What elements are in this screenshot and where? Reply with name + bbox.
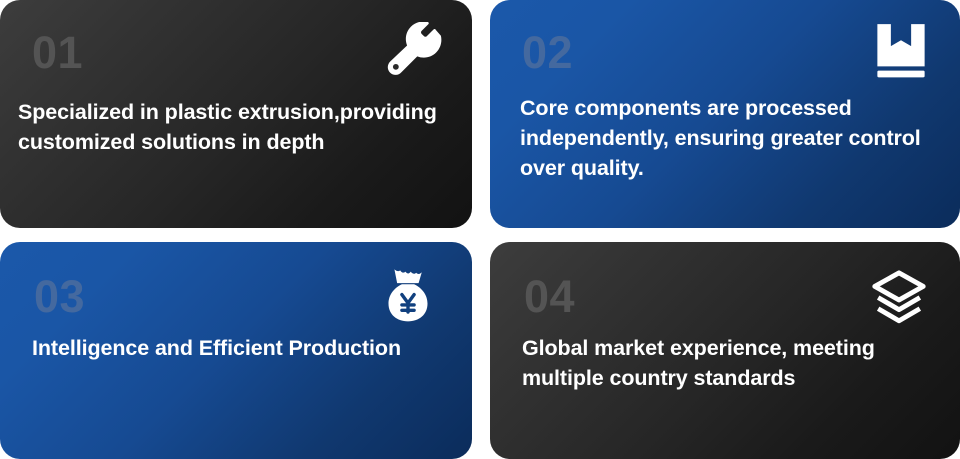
feature-card-grid: 01 Specialized in plastic extrusion,prov… (0, 0, 960, 459)
card-text-01: Specialized in plastic extrusion,providi… (18, 97, 438, 157)
card-number-02: 02 (522, 30, 926, 75)
feature-card-04[interactable]: 04 Global market experience, meeting mul… (490, 242, 960, 459)
card-number-03: 03 (34, 274, 438, 319)
feature-card-02[interactable]: 02 Core components are processed indepen… (490, 0, 960, 228)
feature-card-01[interactable]: 01 Specialized in plastic extrusion,prov… (0, 0, 472, 228)
card-text-02: Core components are processed independen… (520, 93, 926, 183)
card-number-01: 01 (32, 30, 438, 75)
card-text-03: Intelligence and Efficient Production (32, 333, 438, 363)
card-text-04: Global market experience, meeting multip… (522, 333, 926, 393)
feature-card-03[interactable]: 03 Intelligence and Efficient Production (0, 242, 472, 459)
card-number-04: 04 (524, 274, 926, 319)
